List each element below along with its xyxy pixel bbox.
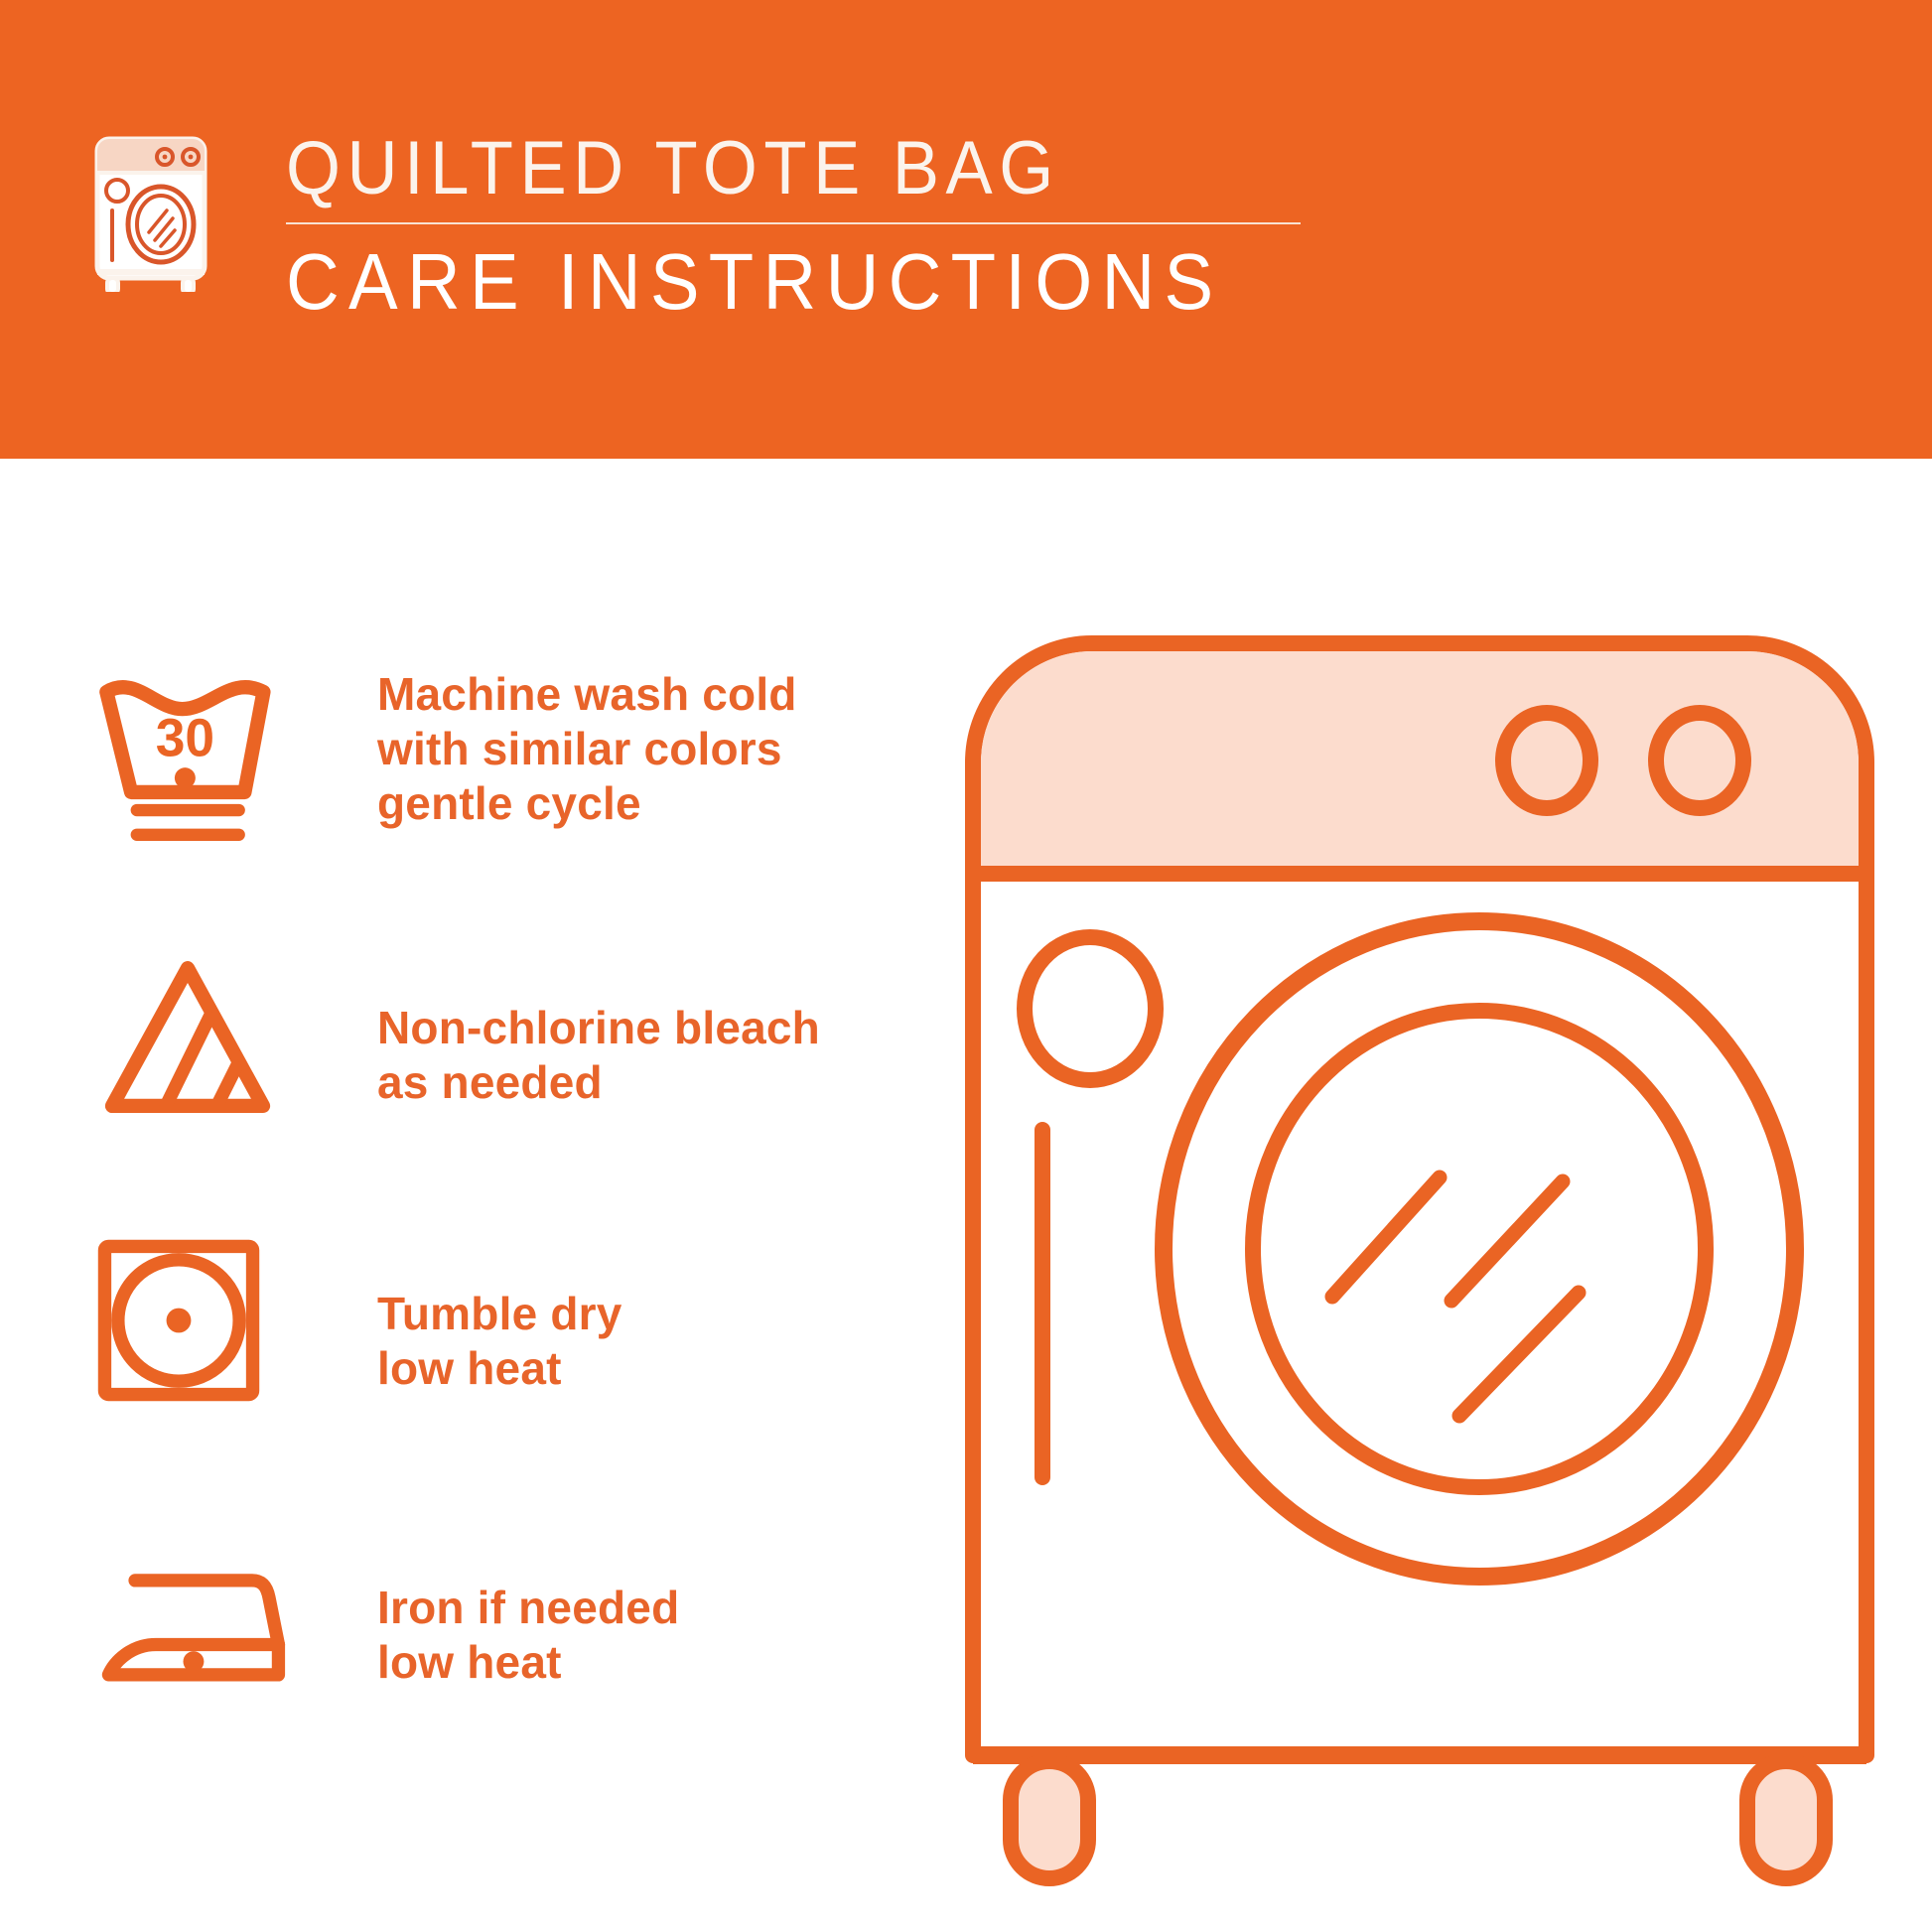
care-text-line: gentle cycle (377, 776, 797, 831)
washing-machine-icon (81, 133, 220, 292)
machine-leg-right (1747, 1761, 1825, 1878)
care-row-iron: Iron if needed low heat (87, 1519, 941, 1807)
care-text-line: low heat (377, 1341, 622, 1396)
care-text-line: Machine wash cold (377, 667, 797, 722)
care-text-bleach: Non-chlorine bleach as needed (316, 1001, 820, 1110)
care-row-bleach: Non-chlorine bleach as needed (87, 943, 941, 1231)
control-knob-1 (1503, 713, 1590, 808)
header-band: QUILTED TOTE BAG CARE INSTRUCTIONS (0, 0, 1932, 459)
care-text-line: with similar colors (377, 722, 797, 776)
bleach-stripe-1 (163, 1012, 211, 1112)
machine-leg-left (1011, 1761, 1088, 1878)
care-text-tumble-dry: Tumble dry low heat (316, 1287, 622, 1396)
care-text-line: low heat (377, 1635, 679, 1690)
care-text-line: Non-chlorine bleach (377, 1001, 820, 1055)
title-divider (286, 222, 1301, 224)
care-instructions-page: QUILTED TOTE BAG CARE INSTRUCTIONS 30 (0, 0, 1932, 1932)
tumble-dry-heat-dot (167, 1309, 192, 1333)
washing-machine-illustration (943, 614, 1896, 1894)
iron-heat-dot (184, 1651, 205, 1672)
iron-low-heat-icon (87, 1541, 316, 1739)
control-knob-2 (1656, 713, 1743, 808)
care-instruction-list: 30 Machine wash cold with similar colors… (87, 655, 941, 1807)
page-title: QUILTED TOTE BAG (286, 127, 1256, 210)
care-text-machine-wash: Machine wash cold with similar colors ge… (316, 667, 797, 831)
care-text-line: Tumble dry (377, 1287, 622, 1341)
page-subtitle: CARE INSTRUCTIONS (286, 238, 1256, 326)
header-title-block: QUILTED TOTE BAG CARE INSTRUCTIONS (286, 127, 1328, 326)
non-chlorine-bleach-triangle-icon (87, 953, 316, 1152)
care-row-tumble-dry: Tumble dry low heat (87, 1231, 941, 1519)
care-row-machine-wash: 30 Machine wash cold with similar colors… (87, 655, 941, 943)
care-text-line: as needed (377, 1055, 820, 1110)
care-text-line: Iron if needed (377, 1581, 679, 1635)
care-text-iron: Iron if needed low heat (316, 1581, 679, 1690)
wash-temperature-label: 30 (156, 710, 214, 768)
tumble-dry-low-icon (87, 1235, 316, 1434)
wash-heat-dot (175, 767, 196, 788)
wash-tub-30-gentle-icon: 30 (87, 671, 316, 870)
